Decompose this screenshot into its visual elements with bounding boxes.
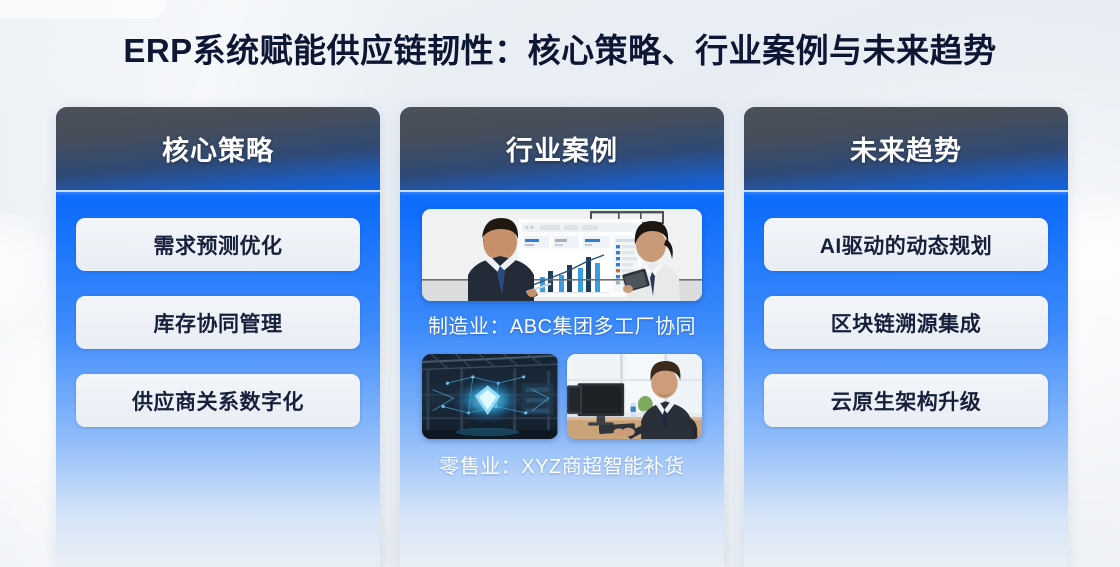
column-future-trends: 未来趋势 AI驱动的动态规划 区块链溯源集成 云原生架构升级 [744,107,1068,567]
list-item-label: 库存协同管理 [154,308,283,338]
column-header-future-trends: 未来趋势 [744,107,1068,190]
list-item-label: 需求预测优化 [154,230,283,260]
list-item-label: 区块链溯源集成 [831,308,982,338]
list-item[interactable]: 区块链溯源集成 [764,296,1048,349]
column-body-industry-cases: 制造业：ABC集团多工厂协同 [400,192,724,479]
column-header-label: 行业案例 [506,129,618,168]
list-item-label: 云原生架构升级 [831,386,982,416]
column-header-label: 核心策略 [162,129,274,168]
case-photo-row [422,354,702,439]
decorative-circle-left [0,212,58,332]
list-item[interactable]: 库存协同管理 [76,296,360,349]
list-item[interactable]: 需求预测优化 [76,218,360,271]
list-item[interactable]: 云原生架构升级 [764,374,1048,427]
photo-smart-warehouse [422,354,558,439]
case-caption-retail: 零售业：XYZ商超智能补货 [422,450,702,479]
column-header-core-strategy: 核心策略 [56,107,380,190]
list-item[interactable]: AI驱动的动态规划 [764,218,1048,271]
list-item[interactable]: 供应商关系数字化 [76,374,360,427]
column-core-strategy: 核心策略 需求预测优化 库存协同管理 供应商关系数字化 [56,107,380,567]
list-item-label: 供应商关系数字化 [132,386,304,416]
column-industry-cases: 行业案例 [400,107,724,567]
column-header-industry-cases: 行业案例 [400,107,724,190]
columns-container: 核心策略 需求预测优化 库存协同管理 供应商关系数字化 行业案例 [56,107,1068,567]
page-title: ERP系统赋能供应链韧性：核心策略、行业案例与未来趋势 [0,24,1120,72]
case-caption-manufacturing: 制造业：ABC集团多工厂协同 [422,310,702,339]
photo-manufacturing-meeting [422,209,702,301]
decorative-corner-frame [0,0,166,18]
list-item-label: AI驱动的动态规划 [820,230,993,260]
column-header-label: 未来趋势 [850,129,962,168]
column-body-future-trends: AI驱动的动态规划 区块链溯源集成 云原生架构升级 [744,192,1068,427]
photo-office-worker [567,354,703,439]
slide-canvas: ERP系统赋能供应链韧性：核心策略、行业案例与未来趋势 核心策略 需求预测优化 … [0,0,1120,567]
column-body-core-strategy: 需求预测优化 库存协同管理 供应商关系数字化 [56,192,380,427]
